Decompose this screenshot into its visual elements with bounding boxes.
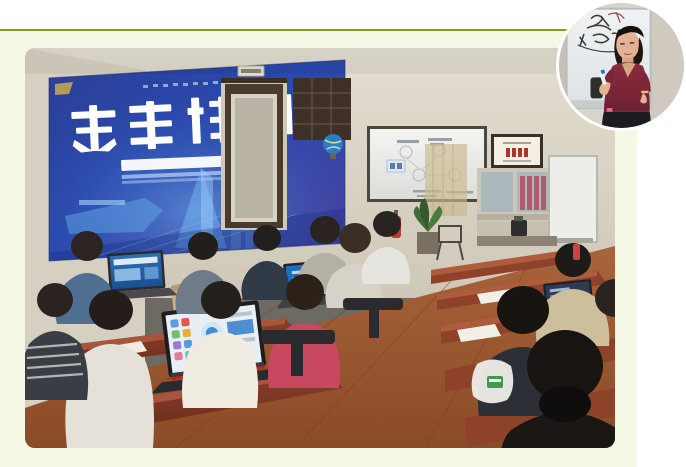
- instructor-inset-photo: Female instructor in a burgundy top stan…: [556, 0, 686, 131]
- portrait-icon: [559, 3, 684, 128]
- photo-icon: [25, 48, 615, 448]
- screenshot-canvas: Customs skills training classroom: rows …: [0, 0, 686, 467]
- main-classroom-photo: Customs skills training classroom: rows …: [25, 48, 615, 448]
- inset-photo-alt: Female instructor in a burgundy top stan…: [559, 3, 560, 4]
- accent-divider-rule: [0, 29, 637, 31]
